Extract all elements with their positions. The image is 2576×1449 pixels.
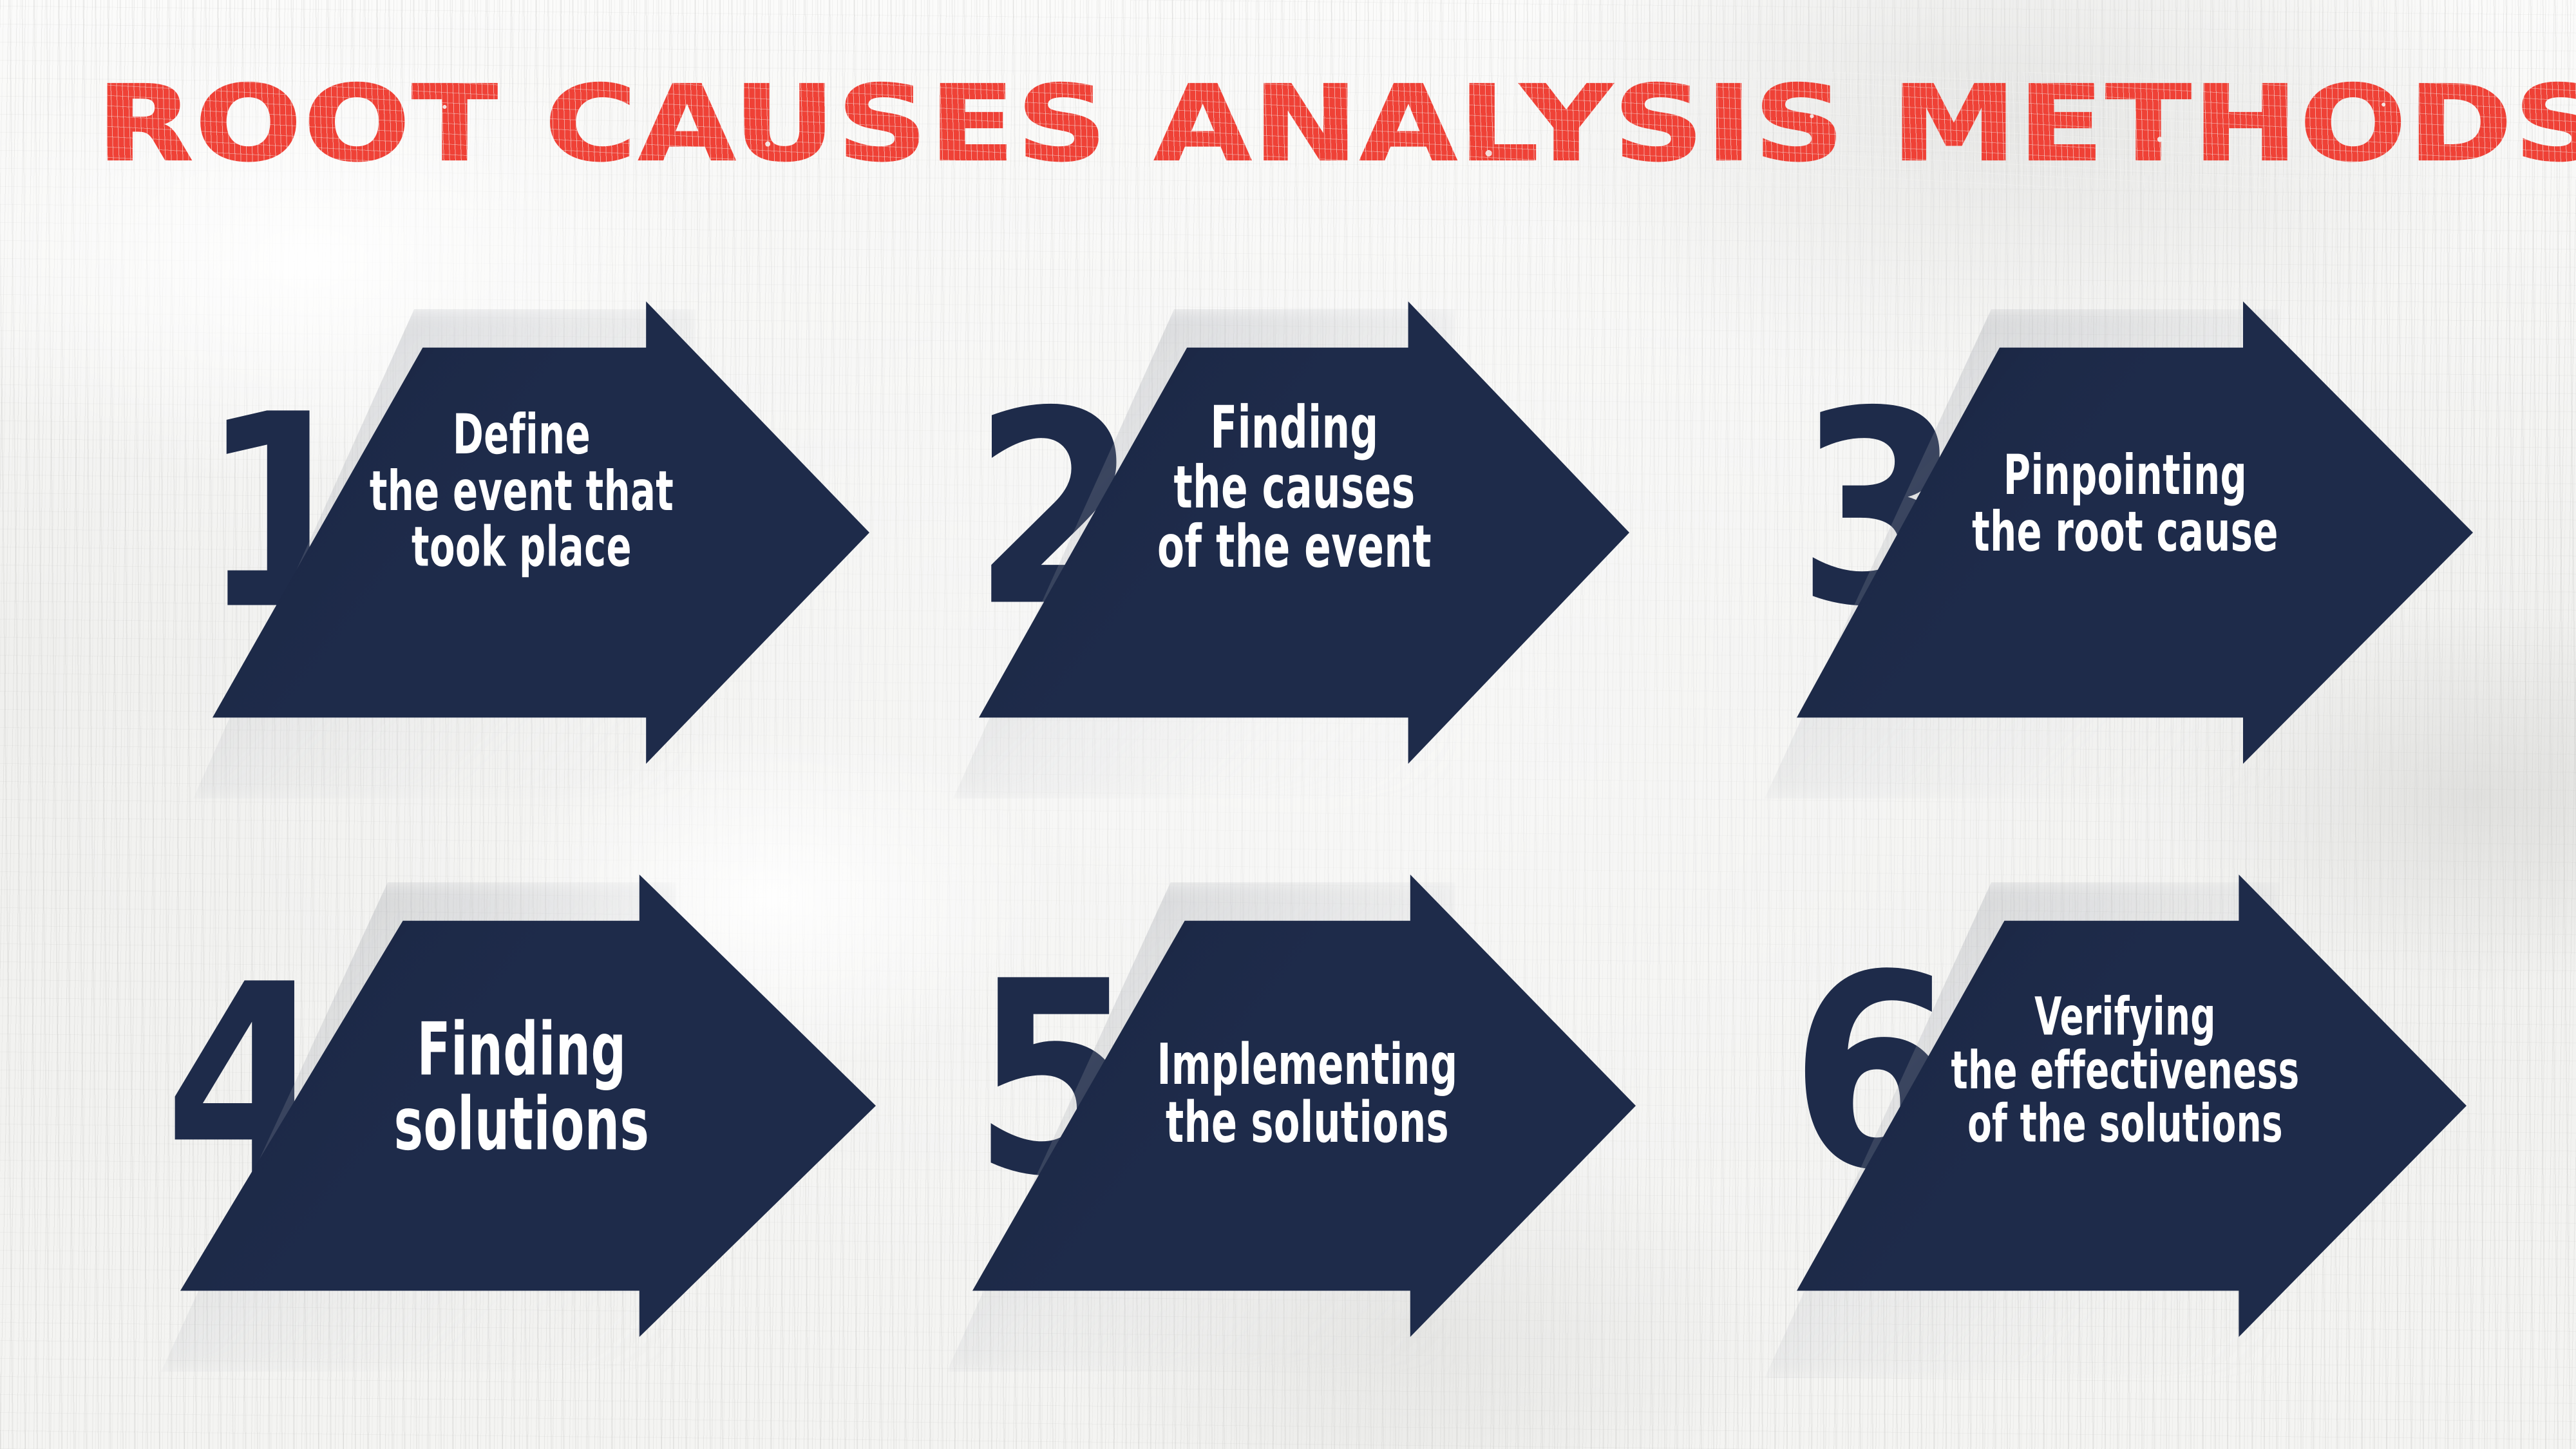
step-label-3: Pinpointing the root cause [1909, 447, 2342, 560]
step-label-2: Finding the causes of the event [1088, 399, 1501, 578]
steps-container: 1 Define the event that took place 2 Fin… [0, 0, 2576, 1449]
step-label-6: Verifying the effectiveness of the solut… [1909, 990, 2342, 1150]
step-label-1: Define the event that took place [310, 406, 733, 575]
step-label-5: Implementing the solutions [1096, 1036, 1519, 1151]
step-label-4: Finding solutions [300, 1012, 743, 1161]
